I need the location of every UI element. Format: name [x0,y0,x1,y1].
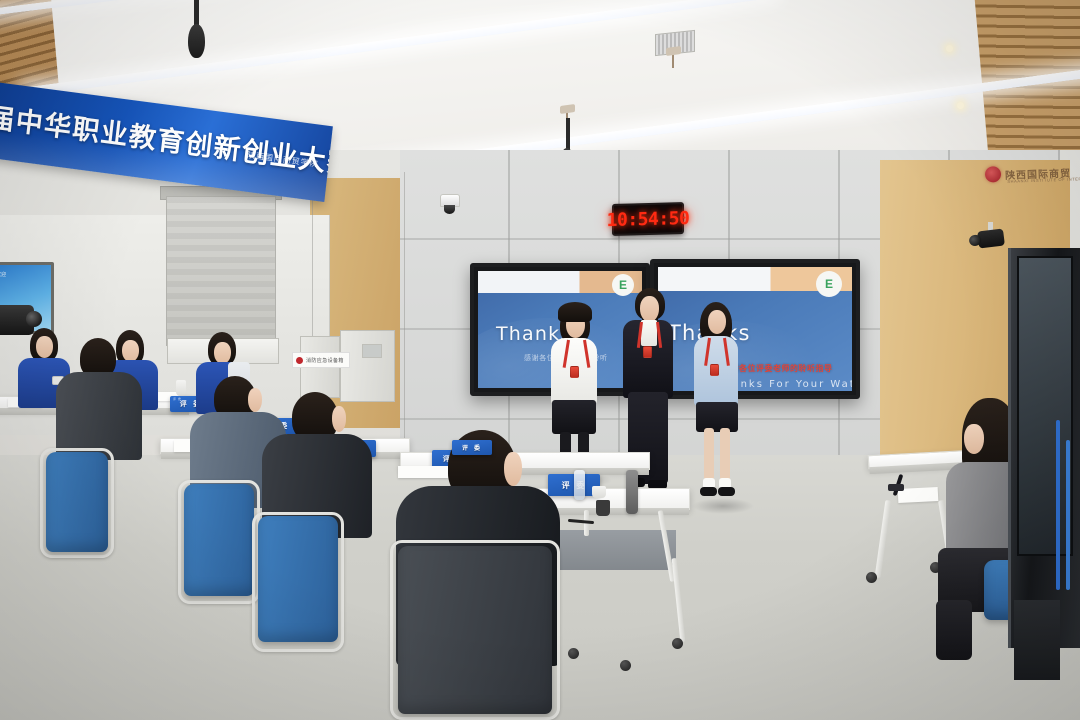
cabinet-vent [362,344,382,358]
cup-white-1 [592,486,606,498]
display-stand-base [1014,600,1060,680]
video-camera-rig [0,305,34,335]
presenter-right-shoe-r [718,487,735,496]
security-camera-icon-right [977,228,1005,248]
chair-back-4[interactable] [398,546,552,714]
staff-3-face [214,342,231,364]
judge-paper-2 [398,466,448,478]
water-bottle-1 [574,470,585,500]
ceiling-sprinkler-1 [672,54,674,68]
slide-left-logo-icon: E [612,274,634,296]
hanging-rod-2 [566,118,570,152]
presenter-right-leg-r [720,428,730,480]
front-table-modesty-panel [556,530,676,570]
presenter-center-badge [643,346,652,358]
hanging-speaker-1 [188,24,205,58]
security-camera-icon-left [440,194,460,207]
countdown-timer-display: 10:54:50 [612,202,684,236]
presenter-right-shadow [692,498,754,514]
presenter-right-leg-l [704,428,714,480]
front-table-caster-2 [620,660,631,671]
wall-monitor-text: 欢迎 [0,272,6,279]
thermos-bottle-1 [626,470,638,514]
slide-right: E Thanks 感谢各位评委老师的聆听指导 Thanks For Your W… [658,267,852,391]
staff-1-face [36,336,53,358]
presenter-center-shirt [641,320,657,346]
equipment-sign-emblem-icon [296,357,303,364]
judge-1-jacket [56,372,142,460]
presenter-right-face [708,310,726,334]
front-table-caster-1 [568,648,579,659]
institution-emblem-icon [985,166,1002,183]
note-taker-face [964,424,984,454]
presenter-center-face [640,296,659,322]
note-taker-legs [936,600,972,660]
nameplate-judge-1-header: 评 委 [173,397,181,401]
countdown-timer-digits: 10:54:50 [607,207,690,230]
note-taker-caster-1 [866,572,877,583]
smartphone-on-desk[interactable] [888,484,904,491]
presenter-left-skirt [552,400,596,434]
judge-2-face [248,388,262,412]
front-table-caster-3 [672,638,683,649]
staff-2-face [122,340,139,362]
slide-left-logo-letter: E [619,278,627,292]
ceiling-spotlight-1 [946,45,953,52]
judge-3-face [332,406,346,432]
presenter-left-fringe [558,302,592,322]
judge-4-face [504,452,522,486]
slide-right-red-line: 感谢各位评委老师的聆听指导 [722,363,833,374]
presenter-right-badge [710,364,719,376]
wall-seam-2 [404,172,405,462]
roller-blind-screen [166,196,276,346]
chair-back-3[interactable] [258,516,338,642]
presenter-right-skirt [696,402,738,432]
equipment-sign: 消防应急设备箱 [292,352,350,368]
display-cable-1 [1056,420,1060,590]
display-cable-2 [1066,440,1070,590]
slide-right-logo-icon: E [816,271,842,297]
ceiling-spotlight-2 [957,102,964,109]
cup-dark-1 [596,500,610,516]
chair-back-2[interactable] [184,484,254,596]
institution-wall-logo: 陕西国际商贸 SHAANXI INSTITUTE OF INTERNATIONA… [985,158,1078,187]
display-screen-right[interactable]: E Thanks 感谢各位评委老师的聆听指导 Thanks For Your W… [650,259,860,399]
back-table-cup [176,380,186,396]
mobile-display-screen [1017,256,1073,556]
equipment-sign-text: 消防应急设备箱 [306,357,344,364]
presenter-right-shoe-l [700,487,717,496]
nameplate-judge-6-label: 评 委 [462,443,482,452]
nameplate-judge-6: 评 委 [452,440,492,455]
slide-right-logo-letter: E [825,277,833,291]
chair-back-1[interactable] [46,452,108,552]
presenter-left-badge [570,366,579,378]
conference-room-photo: 届中华职业教育创新创业大赛 陕西国际商贸学院 10:54:50 陕西国际商贸 S… [0,0,1080,720]
